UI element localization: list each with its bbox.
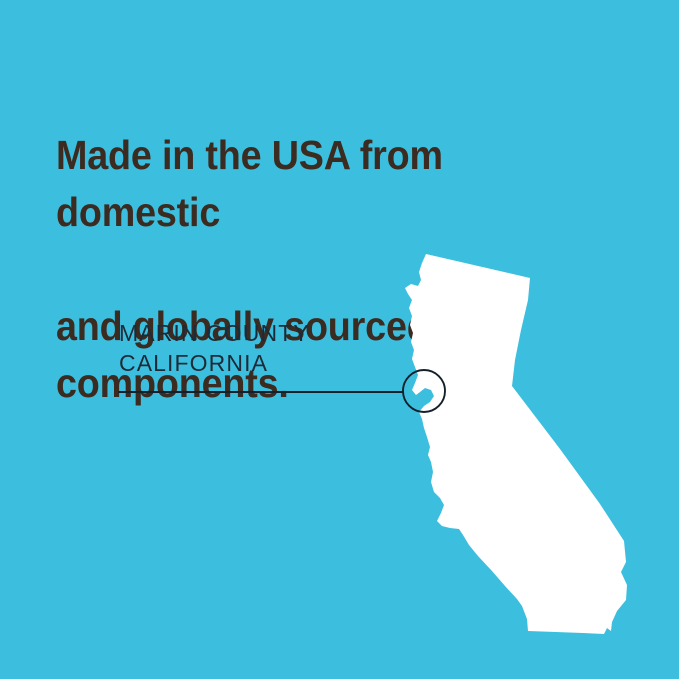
callout-label-state: CALIFORNIA [119, 348, 310, 378]
callout-circle-marker [403, 370, 445, 412]
callout-annotation [0, 0, 679, 679]
promo-graphic: Made in the USA from domestic and global… [0, 0, 679, 679]
callout-label-county: MARIN COUNTY [119, 318, 310, 348]
callout-label: MARIN COUNTY CALIFORNIA [119, 318, 310, 378]
